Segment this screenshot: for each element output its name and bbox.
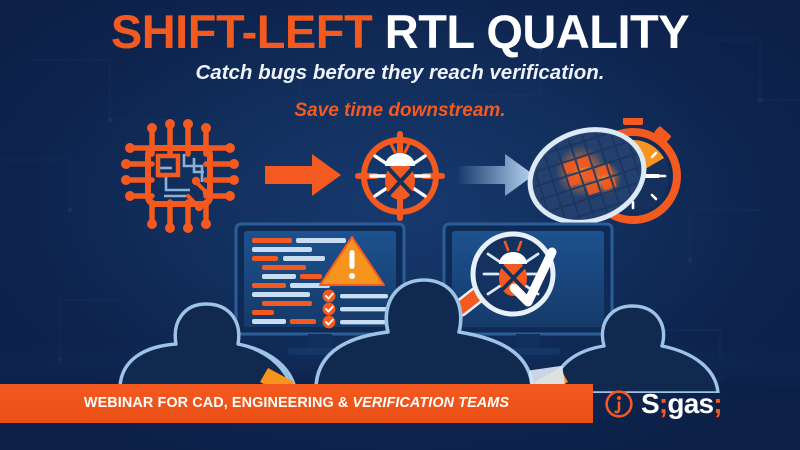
- headline-main: RTL QUALITY: [385, 5, 689, 58]
- brand-logo[interactable]: S;gas;: [604, 384, 722, 423]
- webinar-banner: WEBINAR FOR CAD, ENGINEERING & VERIFICAT…: [0, 384, 593, 423]
- logo-semicolon-2: ;: [713, 388, 722, 419]
- banner-text-italic: VERIFICATION TEAMS: [352, 395, 509, 411]
- engineering-team-scene: [0, 218, 800, 393]
- chip-icon: [121, 119, 239, 233]
- webinar-banner-label: WEBINAR FOR CAD, ENGINEERING & VERIFICAT…: [0, 395, 593, 411]
- arrow-right-blue-icon: [458, 154, 534, 196]
- check-circle-icon: [323, 303, 336, 316]
- brand-logo-wordmark: S;gas;: [641, 390, 722, 418]
- sigasi-circle-icon: [604, 389, 634, 419]
- logo-word-gas: gas: [667, 388, 713, 419]
- bug-target-icon: [358, 134, 442, 218]
- process-icon-row: [0, 118, 800, 233]
- poster-canvas: SHIFT-LEFT RTL QUALITY Catch bugs before…: [0, 0, 800, 450]
- check-circle-icon: [323, 316, 336, 329]
- headline-accent: SHIFT-LEFT: [111, 5, 372, 58]
- logo-word-s: S: [641, 388, 659, 419]
- subtitle-line-1: Catch bugs before they reach verificatio…: [0, 63, 800, 84]
- checklist: [323, 290, 388, 329]
- headline: SHIFT-LEFT RTL QUALITY: [0, 8, 800, 55]
- arrow-right-orange-icon: [265, 154, 341, 196]
- wafer-stopwatch-icon: [518, 118, 677, 233]
- check-circle-icon: [323, 290, 336, 303]
- banner-text-plain: WEBINAR FOR CAD, ENGINEERING &: [84, 395, 353, 411]
